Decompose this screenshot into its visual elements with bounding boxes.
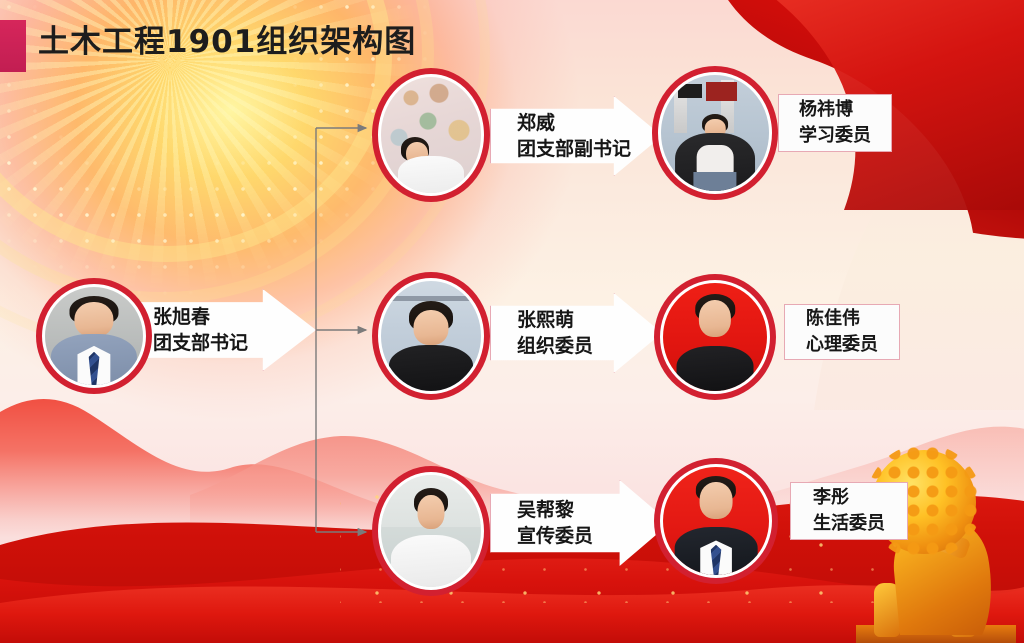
portrait-face [418,495,445,529]
root-role: 团支部书记 [153,330,248,356]
portrait-hoodie [697,145,734,175]
portrait-face [699,300,731,337]
title-accent-bar [0,20,26,72]
branch-0-right-name: 杨祎博 [799,97,871,123]
branch-1-middle-role: 组织委员 [517,333,593,359]
photo-branch-1-middle-image [381,281,481,391]
photo-branch-1-right[interactable] [654,274,776,400]
photo-branch-1-right-image [663,283,767,391]
branch-2-right-name: 李彤 [813,485,885,511]
branch-2-right-role: 生活委员 [813,511,885,537]
portrait-torso [391,535,471,587]
photo-branch-2-middle[interactable] [372,466,490,596]
photo-root[interactable] [36,278,152,394]
branch-1-right-name-plate: 陈佳伟 心理委员 [784,304,900,360]
portrait-torso [389,345,473,391]
portrait-torso [398,156,464,193]
portrait-torso [677,346,754,391]
portrait-jeans [693,172,736,191]
photo-branch-0-middle-image [381,77,481,193]
photo-branch-0-right-image [661,75,769,191]
org-chart-poster: 土木工程1901组织架构图 张旭春 团支部书记 [0,0,1024,643]
photo-branch-2-middle-image [381,475,481,587]
page-title: 土木工程1901组织架构图 [38,16,416,61]
branch-0-right-role: 学习委员 [799,123,871,149]
photo-branch-2-right[interactable] [654,458,778,584]
branch-2-middle-role: 宣传委员 [517,523,593,549]
portrait-face [414,310,449,345]
branch-0-middle-name: 郑威 [517,110,631,136]
photo-branch-1-middle[interactable] [372,272,490,400]
branch-1-right-role: 心理委员 [806,332,878,358]
tower-sign [706,82,736,101]
branch-0-right-name-plate: 杨祎博 学习委员 [778,94,892,152]
root-name: 张旭春 [153,304,248,330]
photo-root-image [45,287,143,385]
photo-branch-2-right-image [663,467,769,575]
photo-branch-0-middle[interactable] [372,68,490,202]
branch-0-middle-role: 团支部副书记 [517,136,631,162]
branch-2-right-name-plate: 李彤 生活委员 [790,482,908,540]
branch-1-middle-name: 张熙萌 [517,307,593,333]
portrait-face [700,482,733,519]
branch-2-middle-name: 吴帮黎 [517,497,593,523]
photo-branch-0-right[interactable] [652,66,778,200]
branch-1-right-name: 陈佳伟 [806,306,878,332]
tower-sign-2 [678,84,702,98]
portrait-face [74,302,113,337]
